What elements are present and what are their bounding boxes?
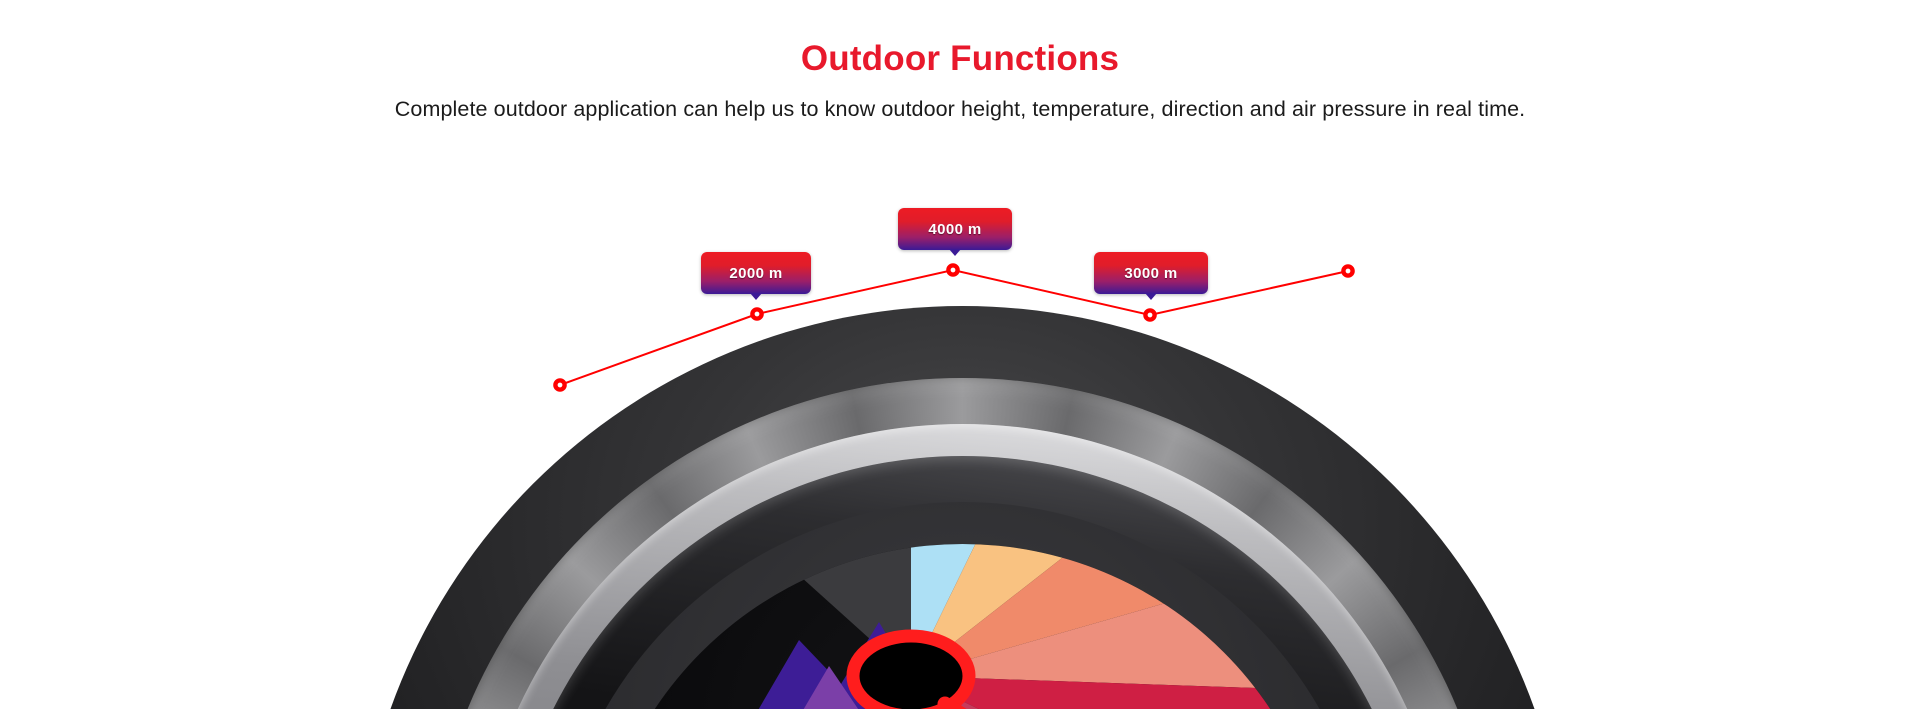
callout-badge-2000m-label: 2000 m — [729, 265, 782, 282]
callout-badge-2000m[interactable]: 2000 m — [701, 252, 811, 294]
header: Outdoor Functions Complete outdoor appli… — [0, 40, 1920, 124]
callout-badge-4000m[interactable]: 4000 m — [898, 208, 1012, 250]
altitude-node-2[interactable] — [948, 265, 957, 274]
smartwatch-image: 100011001200130014001500 253035404550550… — [355, 306, 1570, 709]
page-title: Outdoor Functions — [0, 40, 1920, 79]
dial-graphics: 2530354045505505 — [593, 544, 1332, 709]
page-subtitle: Complete outdoor application can help us… — [0, 94, 1920, 125]
callout-badge-4000m-label: 4000 m — [928, 221, 981, 238]
callout-badge-3000m-label: 3000 m — [1124, 265, 1177, 282]
callout-badge-3000m[interactable]: 3000 m — [1094, 252, 1208, 294]
watch-dial: 2530354045505505 2.35 Km — [593, 544, 1332, 709]
outdoor-functions-banner: Outdoor Functions Complete outdoor appli… — [0, 0, 1920, 709]
altitude-node-4[interactable] — [1343, 266, 1352, 275]
